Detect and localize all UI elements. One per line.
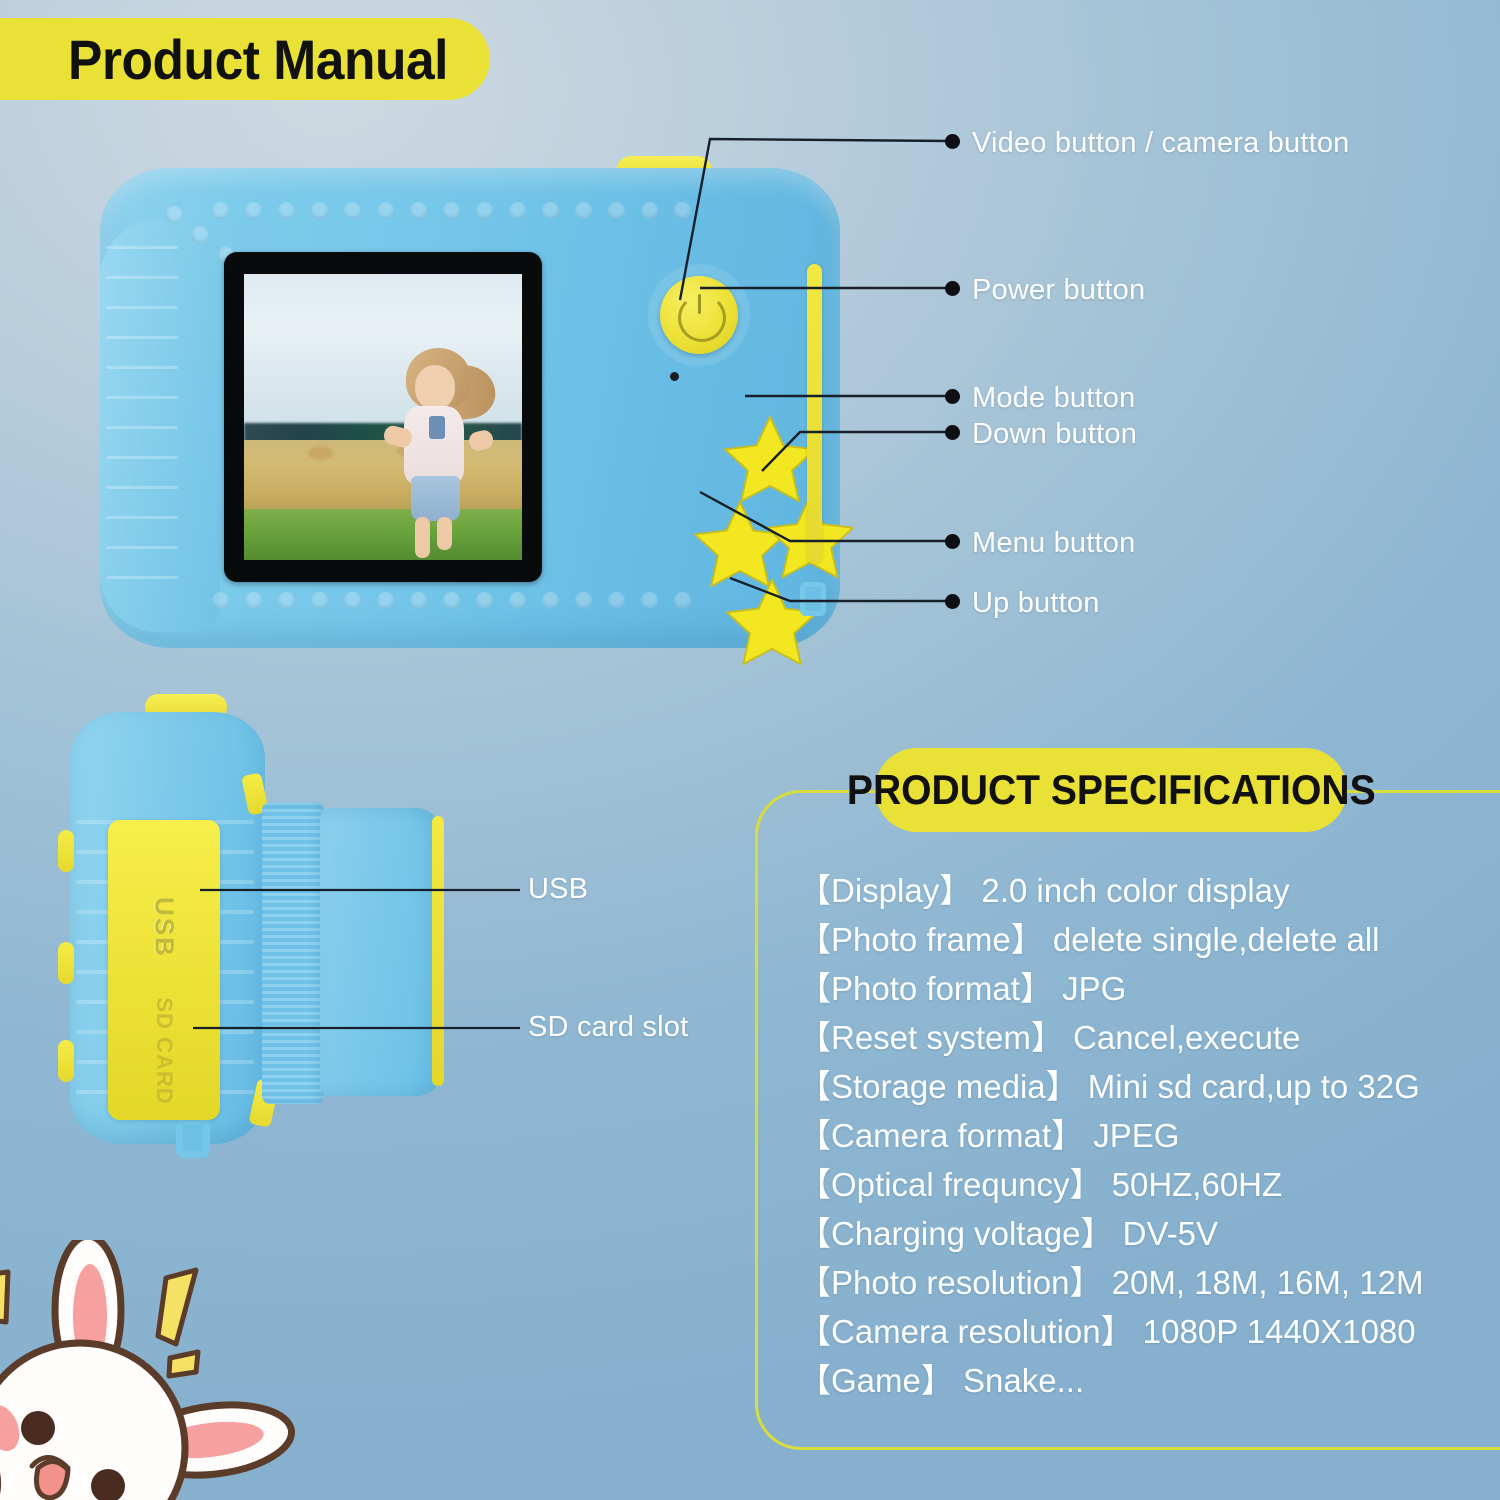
- specifications-heading: PRODUCT SPECIFICATIONS: [847, 766, 1376, 814]
- dot-texture-bottom: [212, 592, 691, 609]
- callout-label-down-button: Down button: [972, 418, 1137, 451]
- spec-row: 【Storage media】 Mini sd card,up to 32G: [798, 1062, 1498, 1111]
- usb-emboss-label: USB: [149, 897, 180, 958]
- specifications-list: 【Display】 2.0 inch color display 【Photo …: [798, 866, 1498, 1405]
- spec-row: 【Reset system】 Cancel,execute: [798, 1013, 1498, 1062]
- camera-body-shell: [100, 168, 840, 648]
- callout-dot-power-button: [945, 281, 960, 296]
- bunny-illustration: [0, 1240, 310, 1500]
- screen-preview-photo: [244, 274, 522, 560]
- girl-in-field: [377, 348, 488, 554]
- bunny-mouth: [32, 1457, 68, 1498]
- lens-front-housing: [320, 808, 442, 1096]
- lens-front-accent: [432, 816, 444, 1086]
- spec-row: 【Camera resolution】 1080P 1440X1080: [798, 1307, 1498, 1356]
- specifications-heading-banner: PRODUCT SPECIFICATIONS: [875, 748, 1347, 832]
- side-button-lower: [58, 1040, 74, 1082]
- bunny-eye-left: [21, 1411, 55, 1445]
- callout-dot-up-button: [945, 594, 960, 609]
- sd-emboss-label: SD CARD: [151, 997, 177, 1104]
- callout-dot-mode-button: [945, 389, 960, 404]
- microphone-hole: [670, 372, 679, 381]
- callout-label-video-camera-button: Video button / camera button: [972, 127, 1350, 160]
- camera-side-view-illustration: USB SD CARD: [40, 690, 520, 1220]
- grip-ribs-texture: [106, 246, 180, 606]
- callout-dot-menu-button: [945, 534, 960, 549]
- lens-barrel-ribs: [262, 802, 324, 1104]
- callout-label-sd-card-slot: SD card slot: [528, 1011, 688, 1044]
- spec-row: 【Optical frequncy】 50HZ,60HZ: [798, 1160, 1498, 1209]
- page-title: Product Manual: [68, 27, 448, 92]
- spec-row: 【Game】 Snake...: [798, 1356, 1498, 1405]
- dot-texture-top: [212, 202, 691, 219]
- product-manual-title-banner: Product Manual: [0, 18, 490, 100]
- spec-row: 【Photo frame】 delete single,delete all: [798, 915, 1498, 964]
- strap-lug: [800, 582, 826, 616]
- camera-back-view-illustration: [88, 150, 878, 670]
- spec-row: 【Camera format】 JPEG: [798, 1111, 1498, 1160]
- side-strap-lug: [176, 1118, 210, 1158]
- side-accent-strip: [807, 264, 822, 564]
- callout-label-up-button: Up button: [972, 587, 1100, 620]
- callout-label-usb: USB: [528, 873, 588, 906]
- power-button[interactable]: [660, 276, 738, 354]
- usb-sd-port-cover: USB SD CARD: [108, 820, 220, 1120]
- lcd-screen-bezel: [224, 252, 542, 582]
- spec-row: 【Charging voltage】 DV-5V: [798, 1209, 1498, 1258]
- spec-row: 【Photo resolution】 20M, 18M, 16M, 12M: [798, 1258, 1498, 1307]
- spec-row: 【Display】 2.0 inch color display: [798, 866, 1498, 915]
- power-icon: [678, 294, 726, 342]
- side-button-middle: [58, 942, 74, 984]
- bunny-mascot: [0, 1240, 290, 1500]
- spec-row: 【Photo format】 JPG: [798, 964, 1498, 1013]
- callout-dot-video-camera-button: [945, 134, 960, 149]
- infographic-canvas: Product Manual: [0, 0, 1500, 1500]
- callout-label-menu-button: Menu button: [972, 527, 1135, 560]
- side-button-upper: [58, 830, 74, 872]
- callout-label-mode-button: Mode button: [972, 382, 1135, 415]
- callout-label-power-button: Power button: [972, 274, 1145, 307]
- callout-dot-down-button: [945, 425, 960, 440]
